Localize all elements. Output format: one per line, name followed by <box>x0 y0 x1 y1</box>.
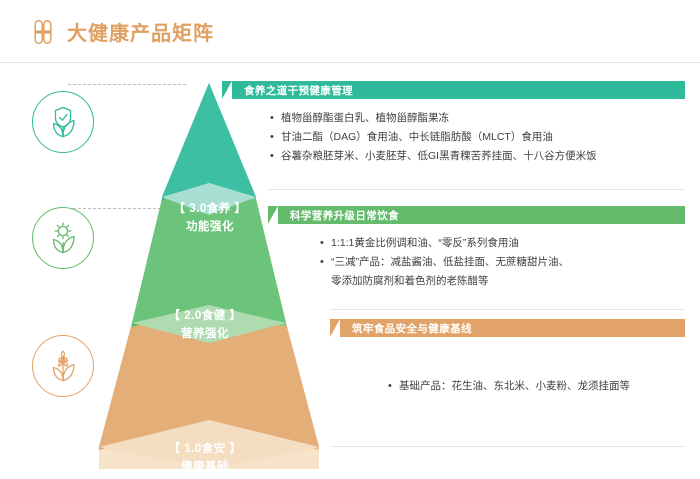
section-title-1: 食养之道干预健康管理 <box>244 83 353 98</box>
list-item: • 植物甾醇酯蛋白乳、植物甾醇酯果冻 <box>270 109 685 128</box>
section-header-bar-1: 食养之道干预健康管理 <box>222 81 685 99</box>
section-divider-2 <box>330 309 685 310</box>
bullet-text-continued: 零添加防腐剂和着色剂的老陈醋等 <box>320 272 685 290</box>
section-body-1: • 植物甾醇酯蛋白乳、植物甾醇酯果冻 • 甘油二酯（DAG）食用油、中长链脂肪酸… <box>222 99 685 166</box>
pyramid-tier-middle <box>132 199 286 343</box>
section-title-2: 科学营养升级日常饮食 <box>290 208 399 223</box>
list-item: • 基础产品：花生油、东北米、小麦粉、龙须挂面等 <box>388 377 685 396</box>
badge-sun-leaf[interactable] <box>32 207 94 269</box>
section-body-3: • 基础产品：花生油、东北米、小麦粉、龙须挂面等 <box>330 337 685 396</box>
bar-notch-icon-2 <box>268 206 278 224</box>
bar-notch-icon-1 <box>222 81 232 99</box>
bullet-text: 甘油二酯（DAG）食用油、中长链脂肪酸（MLCT）食用油 <box>281 128 553 146</box>
page-header: 大健康产品矩阵 <box>0 0 700 63</box>
section-title-3: 筑牢食品安全与健康基线 <box>352 321 472 336</box>
bullet-text: “三减”产品：减盐酱油、低盐挂面、无蔗糖甜片油、 <box>331 253 569 271</box>
page-title: 大健康产品矩阵 <box>67 17 214 46</box>
bullet-text: 1:1:1黄金比例调和油、“零反”系列食用油 <box>331 234 519 252</box>
bullet-icon: • <box>320 234 331 253</box>
bullet-icon: • <box>388 377 399 396</box>
section-header-bar-3: 筑牢食品安全与健康基线 <box>330 319 685 337</box>
bullet-icon: • <box>270 147 281 166</box>
pyramid-tier-bottom <box>99 323 319 469</box>
bullet-text: 基础产品：花生油、东北米、小麦粉、龙须挂面等 <box>399 377 630 395</box>
list-item: • 1:1:1黄金比例调和油、“零反”系列食用油 <box>320 234 685 253</box>
badge-wheat-leaf[interactable] <box>32 335 94 397</box>
wheat-leaf-icon <box>43 346 83 386</box>
bullet-text: 植物甾醇酯蛋白乳、植物甾醇酯果冻 <box>281 109 449 127</box>
clover-flower-icon <box>30 19 56 45</box>
section-divider-3 <box>330 446 685 447</box>
bar-notch-icon-3 <box>330 319 340 337</box>
list-item: • 甘油二酯（DAG）食用油、中长链脂肪酸（MLCT）食用油 <box>270 128 685 147</box>
section-tier3: 筑牢食品安全与健康基线 • 基础产品：花生油、东北米、小麦粉、龙须挂面等 <box>330 319 685 396</box>
badge-shield-check-leaf[interactable] <box>32 91 94 153</box>
section-header-bar-2: 科学营养升级日常饮食 <box>268 206 685 224</box>
section-tier2: 科学营养升级日常饮食 • 1:1:1黄金比例调和油、“零反”系列食用油 • “三… <box>268 206 685 290</box>
bullet-icon: • <box>270 128 281 147</box>
shield-check-leaf-icon <box>43 102 83 142</box>
section-tier1: 食养之道干预健康管理 • 植物甾醇酯蛋白乳、植物甾醇酯果冻 • 甘油二酯（DAG… <box>222 81 685 166</box>
sun-leaf-icon <box>43 218 83 258</box>
diagram-stage: 【 3.0食养 】 功能强化 【 2.0食健 】 营养强化 【 1.0食安 】 … <box>0 63 700 479</box>
section-divider-1 <box>268 189 685 190</box>
section-body-2: • 1:1:1黄金比例调和油、“零反”系列食用油 • “三减”产品：减盐酱油、低… <box>268 224 685 290</box>
bullet-icon: • <box>320 253 331 272</box>
list-item: • “三减”产品：减盐酱油、低盐挂面、无蔗糖甜片油、 <box>320 253 685 272</box>
bullet-icon: • <box>270 109 281 128</box>
bullet-text: 谷薯杂粮胚芽米、小麦胚芽、低GI黑青稞苦荞挂面、十八谷方便米饭 <box>281 147 597 165</box>
list-item: • 谷薯杂粮胚芽米、小麦胚芽、低GI黑青稞苦荞挂面、十八谷方便米饭 <box>270 147 685 166</box>
